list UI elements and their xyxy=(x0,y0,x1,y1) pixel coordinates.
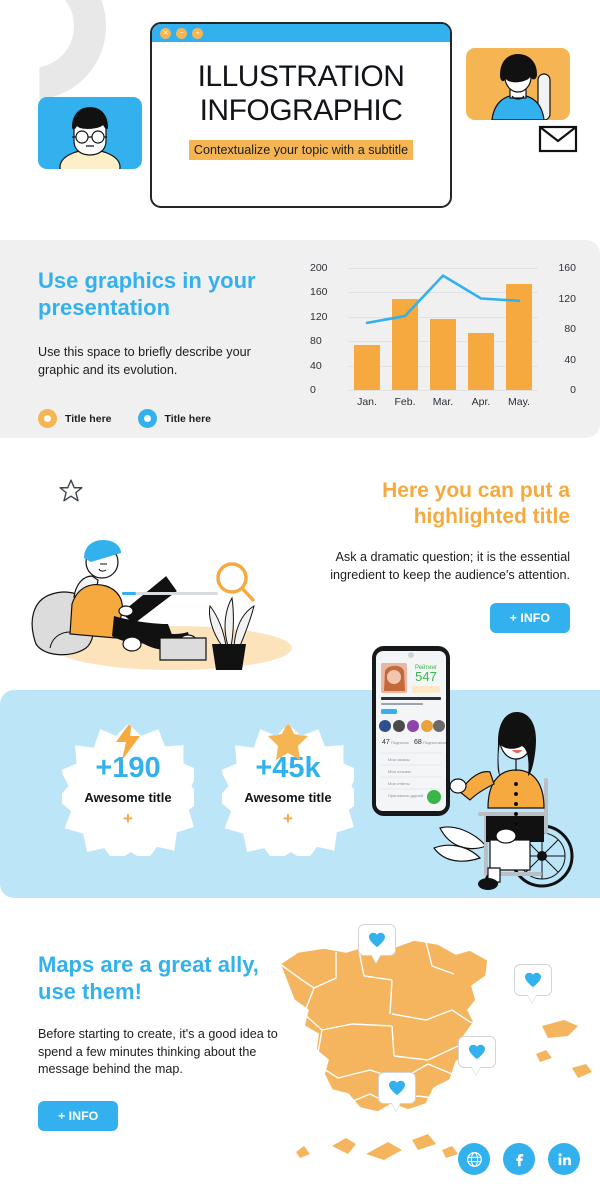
social-links xyxy=(458,1143,580,1175)
woman-with-afro-avatar xyxy=(466,48,570,120)
y-tick-right-40: 40 xyxy=(542,354,576,366)
legend-item-0[interactable]: Title here xyxy=(38,409,112,428)
y-tick-right-160: 160 xyxy=(542,262,576,274)
lightning-bolt-icon xyxy=(106,718,150,762)
star-icon xyxy=(266,718,310,762)
y-tick-right-0: 0 xyxy=(542,384,576,396)
y-tick-left-200: 200 xyxy=(310,262,344,274)
y-axis-left: 04080120160200 xyxy=(310,268,344,390)
highlight-body: Ask a dramatic question; it is the essen… xyxy=(312,549,570,585)
stats-section: +190 Awesome title + +45k Awesome title … xyxy=(0,690,600,898)
map-pin-0[interactable] xyxy=(358,924,396,956)
x-label-Apr.: Apr. xyxy=(462,396,500,408)
chart-heading: Use graphics in your presentation xyxy=(38,268,288,322)
heart-pin xyxy=(468,1044,486,1060)
maximize-dot[interactable]: + xyxy=(192,28,203,39)
chart-legend: Title here Title here xyxy=(38,409,288,428)
gridline xyxy=(348,390,538,391)
legend-label-0: Title here xyxy=(65,413,112,425)
highlight-section: Here you can put a highlighted title Ask… xyxy=(0,462,600,674)
globe-icon[interactable] xyxy=(458,1143,490,1175)
plot xyxy=(348,268,538,390)
legend-item-1[interactable]: Title here xyxy=(138,409,212,428)
x-label-Mar.: Mar. xyxy=(424,396,462,408)
legend-marker-blue xyxy=(138,409,157,428)
stat-plus-1: + xyxy=(283,810,293,827)
svg-text:Мои заказы: Мои заказы xyxy=(388,757,410,762)
stat-badge-0: +190 Awesome title + xyxy=(62,724,194,856)
page-subtitle: Contextualize your topic with a subtitle xyxy=(189,140,413,160)
facebook-icon[interactable] xyxy=(503,1143,535,1175)
y-tick-left-0: 0 xyxy=(310,384,344,396)
chart-plot-area: 04080120160200 04080120160 Jan.Feb.Mar.A… xyxy=(310,258,576,420)
svg-text:Мои ответы: Мои ответы xyxy=(388,781,410,786)
svg-text:Подписок: Подписок xyxy=(391,740,409,745)
line-series xyxy=(348,268,538,390)
heart-pin xyxy=(388,1080,406,1096)
x-label-May.: May. xyxy=(500,396,538,408)
infographic-page: ✕ − + ILLUSTRATION INFOGRAPHIC Contextua… xyxy=(0,0,600,1200)
heart-pin xyxy=(524,972,542,988)
woman-in-wheelchair xyxy=(430,708,590,898)
y-tick-right-80: 80 xyxy=(542,323,576,335)
header-section: ✕ − + ILLUSTRATION INFOGRAPHIC Contextua… xyxy=(0,0,600,232)
x-label-Jan.: Jan. xyxy=(348,396,386,408)
legend-label-1: Title here xyxy=(165,413,212,425)
browser-content: ILLUSTRATION INFOGRAPHIC Contextualize y… xyxy=(152,42,450,160)
x-axis-labels: Jan.Feb.Mar.Apr.May. xyxy=(348,396,538,408)
envelope-icon xyxy=(538,124,578,154)
y-tick-left-120: 120 xyxy=(310,311,344,323)
map-pin-1[interactable] xyxy=(514,964,552,996)
legend-marker-orange xyxy=(38,409,57,428)
map-pin-2[interactable] xyxy=(458,1036,496,1068)
stat-label-1: Awesome title xyxy=(244,790,331,805)
info-button-highlight[interactable]: + INFO xyxy=(490,603,570,633)
info-button-map[interactable]: + INFO xyxy=(38,1101,118,1131)
svg-text:47: 47 xyxy=(382,739,390,746)
avatar-card-right xyxy=(466,48,570,120)
chart-text-block: Use graphics in your presentation Use th… xyxy=(38,268,288,428)
man-with-glasses-avatar xyxy=(38,97,142,169)
person-on-beanbag-with-laptop xyxy=(22,496,312,674)
x-label-Feb.: Feb. xyxy=(386,396,424,408)
stat-plus-0: + xyxy=(123,810,133,827)
minimize-dot[interactable]: − xyxy=(176,28,187,39)
page-title-line1: ILLUSTRATION xyxy=(166,60,436,94)
svg-text:Мои отзывы: Мои отзывы xyxy=(388,769,411,774)
chart-section: Use graphics in your presentation Use th… xyxy=(0,240,600,438)
trend-line xyxy=(367,276,519,323)
y-tick-left-160: 160 xyxy=(310,286,344,298)
svg-text:68: 68 xyxy=(414,739,422,746)
stat-label-0: Awesome title xyxy=(84,790,171,805)
chart-body: Use this space to briefly describe your … xyxy=(38,344,288,380)
decorative-arc xyxy=(0,0,106,100)
browser-titlebar: ✕ − + xyxy=(152,24,450,42)
highlight-heading: Here you can put a highlighted title xyxy=(312,478,570,529)
y-tick-right-120: 120 xyxy=(542,293,576,305)
browser-window: ✕ − + ILLUSTRATION INFOGRAPHIC Contextua… xyxy=(150,22,452,208)
y-tick-left-80: 80 xyxy=(310,335,344,347)
heart-pin xyxy=(368,932,386,948)
svg-text:547: 547 xyxy=(415,669,437,684)
svg-text:Пригласить друзей: Пригласить друзей xyxy=(388,793,423,798)
linkedin-icon[interactable] xyxy=(548,1143,580,1175)
page-title-line2: INFOGRAPHIC xyxy=(166,94,436,128)
stat-badge-1: +45k Awesome title + xyxy=(222,724,354,856)
y-tick-left-40: 40 xyxy=(310,360,344,372)
map-of-spain[interactable] xyxy=(236,908,600,1178)
highlight-text-block: Here you can put a highlighted title Ask… xyxy=(312,478,570,633)
close-dot[interactable]: ✕ xyxy=(160,28,171,39)
avatar-card-left xyxy=(38,97,142,169)
map-pin-3[interactable] xyxy=(378,1072,416,1104)
y-axis-right: 04080120160 xyxy=(542,268,576,390)
